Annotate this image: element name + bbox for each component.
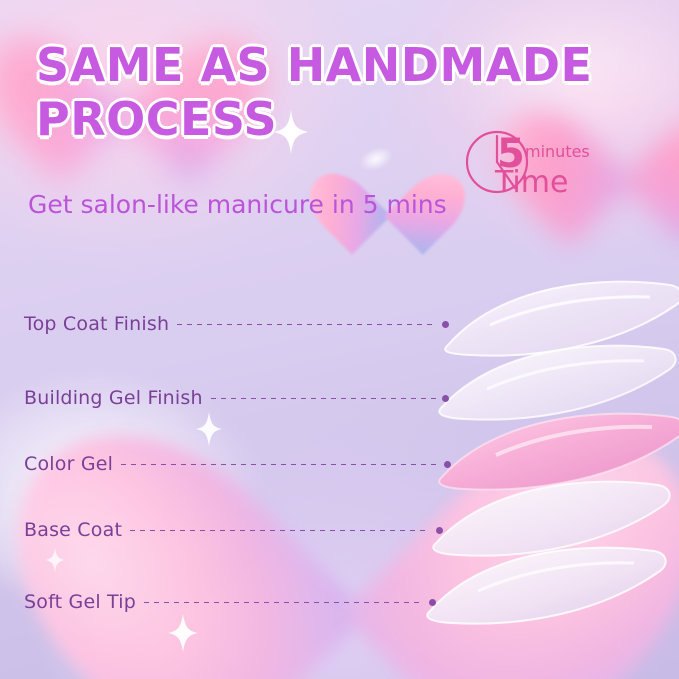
layer-label: Base Coat xyxy=(24,519,122,541)
badge-word: Time xyxy=(495,168,568,198)
subheadline: Get salon-like manicure in 5 mins xyxy=(28,188,448,222)
leader-dot xyxy=(429,599,436,606)
layer-callout-color-gel: Color Gel xyxy=(24,453,451,475)
layer-label: Building Gel Finish xyxy=(24,387,203,409)
badge-unit: minutes xyxy=(525,142,590,161)
leader-line xyxy=(144,602,423,603)
layer-callout-top-coat-finish: Top Coat Finish xyxy=(24,313,449,335)
layer-label: Soft Gel Tip xyxy=(24,591,136,613)
leader-dot xyxy=(444,461,451,468)
leader-line xyxy=(211,398,436,399)
decorative-cloud-bottom xyxy=(40,560,340,679)
leader-line xyxy=(177,324,436,325)
sparkle-icon xyxy=(168,614,198,652)
leader-line xyxy=(121,464,438,465)
time-badge: 5 minutes Time xyxy=(455,128,630,213)
leader-dot xyxy=(436,527,443,534)
product-infographic-poster: SAME AS HANDMADE PROCESS Get salon-like … xyxy=(0,0,679,679)
layer-label: Color Gel xyxy=(24,453,113,475)
sparkle-icon xyxy=(46,548,64,572)
leader-dot xyxy=(442,321,449,328)
leader-dot xyxy=(442,395,449,402)
leader-line xyxy=(130,530,430,531)
sparkle-icon xyxy=(196,412,222,446)
layer-label: Top Coat Finish xyxy=(24,313,169,335)
layer-callout-building-gel-finish: Building Gel Finish xyxy=(24,387,449,409)
layer-callout-soft-gel-tip: Soft Gel Tip xyxy=(24,591,436,613)
layer-callout-base-coat: Base Coat xyxy=(24,519,443,541)
